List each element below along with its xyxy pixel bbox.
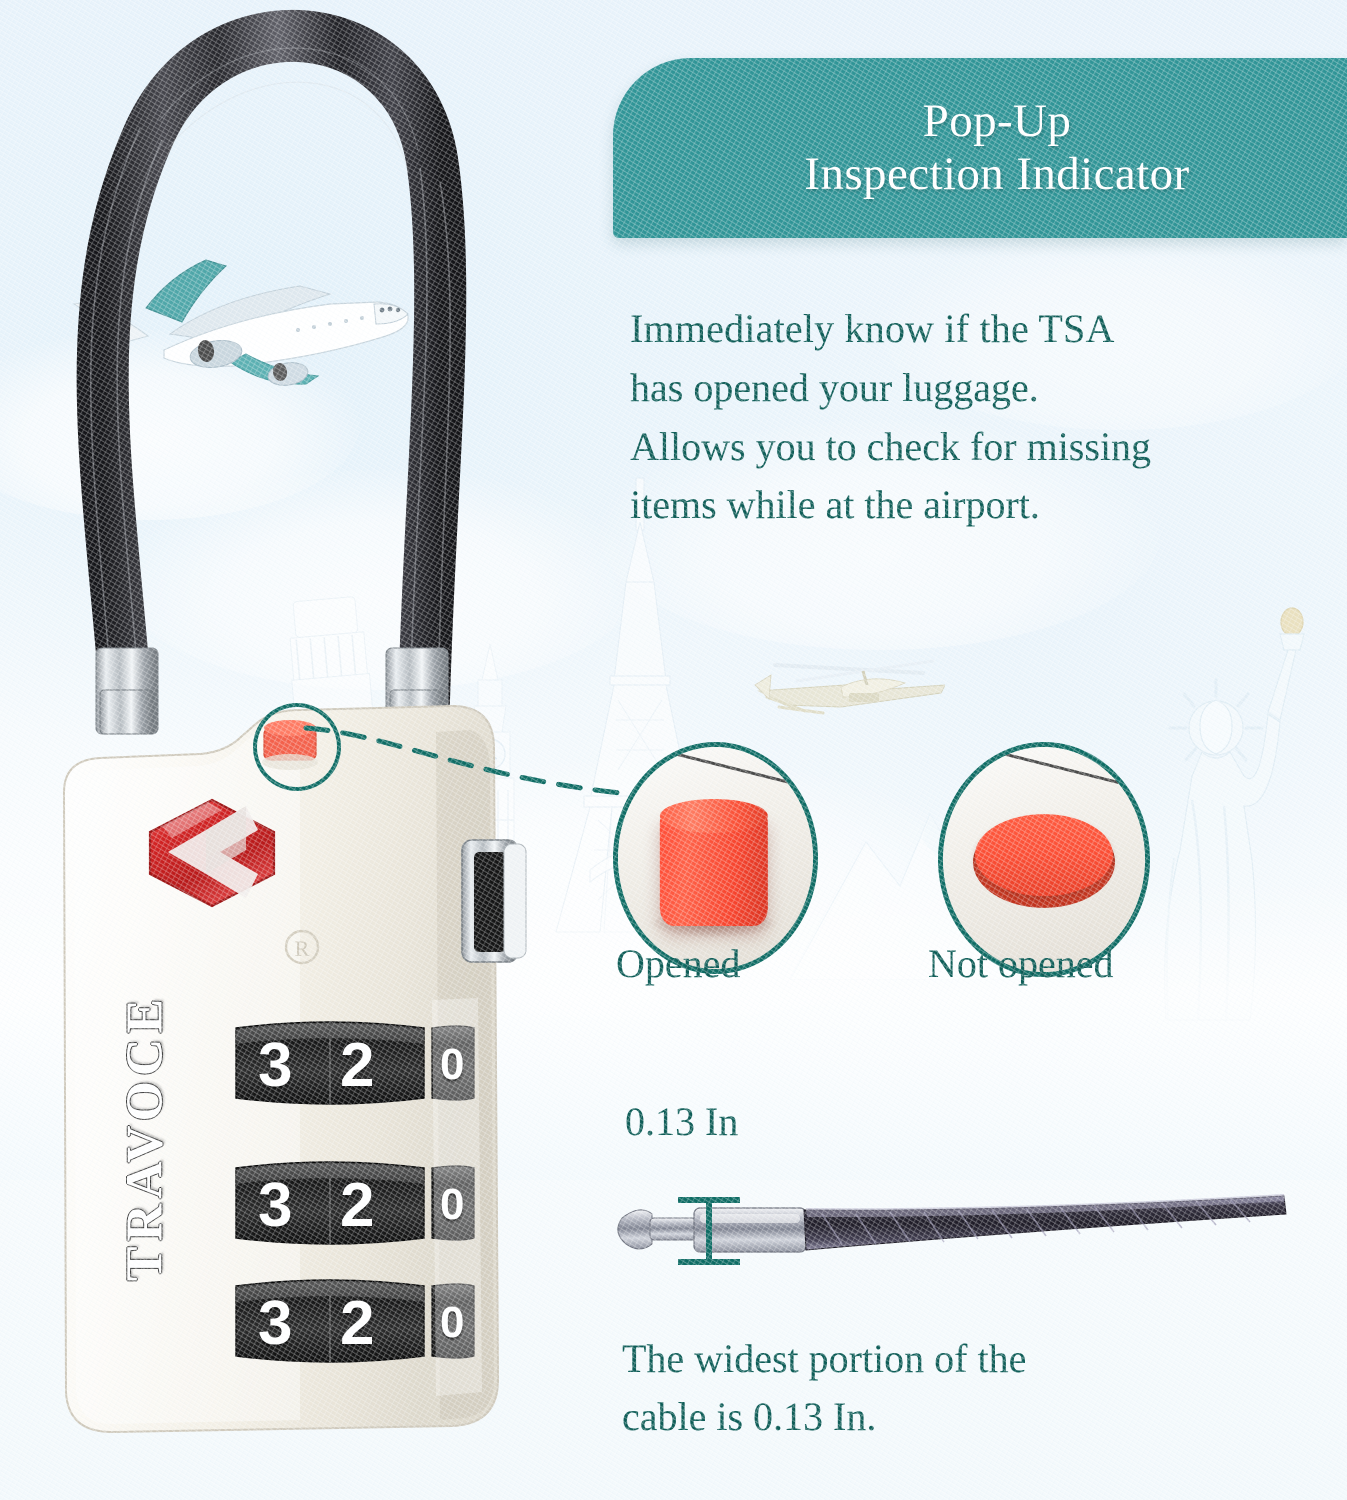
dial-2-digit-2[interactable]: 2	[340, 1170, 374, 1241]
description-line-3: Allows you to check for missing	[630, 418, 1320, 477]
brand-name: TRAVOCE	[116, 988, 175, 1288]
steel-cable-loop	[91, 36, 450, 700]
dial-1-digit-2[interactable]: 2	[340, 1030, 374, 1101]
dimension-caption-line-2: cable is 0.13 In.	[622, 1388, 1262, 1446]
cable-dimension-label: 0.13 In	[625, 1098, 738, 1145]
product-infographic: R	[0, 0, 1347, 1500]
header-banner: Pop-Up Inspection Indicator	[613, 58, 1347, 238]
lock-release-button	[462, 840, 526, 962]
description-text: Immediately know if the TSA has opened y…	[630, 300, 1320, 535]
popup-pin-top	[659, 799, 767, 833]
popup-pin-flush	[975, 814, 1113, 896]
dial-3-digit-3[interactable]: 0	[440, 1298, 464, 1348]
dial-2-digit-1[interactable]: 3	[258, 1170, 292, 1241]
callout-leader-line	[300, 690, 660, 830]
banner-line-2: Inspection Indicator	[804, 148, 1189, 201]
banner-line-1: Pop-Up	[923, 95, 1072, 148]
label-opened: Opened	[616, 940, 740, 987]
dial-3-digit-2[interactable]: 2	[340, 1288, 374, 1359]
popup-pin-highlight-ring	[253, 703, 341, 791]
dial-1-digit-3[interactable]: 0	[440, 1040, 464, 1090]
cable-cross-section-illustration	[608, 1170, 1288, 1280]
helicopter-illustration	[745, 645, 945, 755]
label-not-opened: Not opened	[928, 940, 1114, 987]
description-line-4: items while at the airport.	[630, 476, 1320, 535]
description-line-2: has opened your luggage.	[630, 359, 1320, 418]
dimension-caption-line-1: The widest portion of the	[622, 1330, 1262, 1388]
dial-3-digit-1[interactable]: 3	[258, 1288, 292, 1359]
svg-text:R: R	[295, 936, 310, 961]
statue-of-liberty-silhouette	[1140, 600, 1347, 1030]
dimension-caption: The widest portion of the cable is 0.13 …	[622, 1330, 1262, 1446]
dial-1-digit-1[interactable]: 3	[258, 1030, 292, 1101]
dial-2-digit-3[interactable]: 0	[440, 1180, 464, 1230]
description-line-1: Immediately know if the TSA	[630, 300, 1320, 359]
